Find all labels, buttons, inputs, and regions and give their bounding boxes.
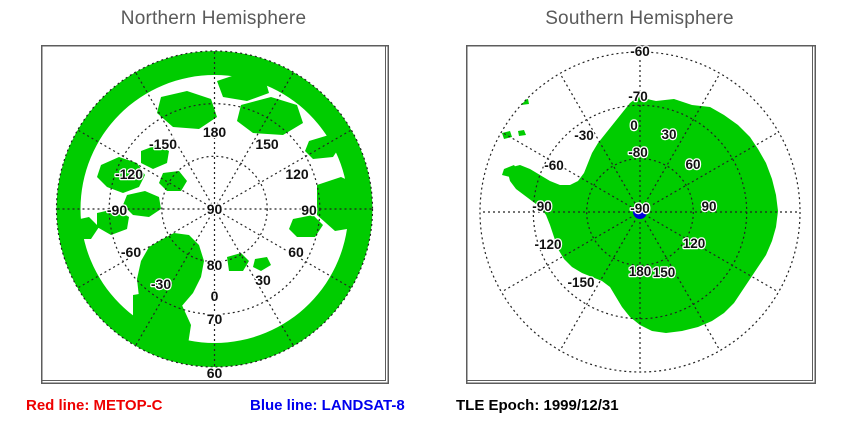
- sh-lon-label-m150: -150: [567, 275, 594, 290]
- nh-lon-label-60: 60: [288, 244, 304, 260]
- sh-lon-label-90: 90: [701, 199, 716, 214]
- nh-lon-label-180: 180: [202, 124, 226, 140]
- legend: Red line: METOP-C Blue line: LANDSAT-8 T…: [0, 395, 850, 423]
- nh-lon-label-90: 90: [301, 202, 317, 218]
- southern-map[interactable]: 180 -150 150 -120 120 -90 90 -60 60 -30 …: [466, 45, 813, 381]
- nh-lat-label-90: 90: [206, 201, 222, 217]
- land-island-a: [502, 131, 512, 139]
- sh-lat-label-m90: -90: [630, 201, 650, 216]
- sh-lon-label-m60: -60: [544, 158, 564, 173]
- nh-lat-label-60: 60: [206, 365, 222, 381]
- northern-map[interactable]: 180 -150 150 -120 120 -90 90 -60 60 -30 …: [41, 45, 386, 381]
- sh-lon-label-m30: -30: [574, 128, 594, 143]
- nh-lat-label-80: 80: [206, 257, 222, 273]
- nh-lat-label-70: 70: [206, 311, 222, 327]
- nh-lon-label-m90: -90: [106, 202, 126, 218]
- sh-lon-label-0: 0: [630, 118, 638, 133]
- sh-lon-label-120: 120: [682, 236, 705, 251]
- land-archipelago-b: [123, 191, 161, 217]
- northern-landmass-group: [41, 51, 373, 384]
- northern-map-svg: 180 -150 150 -120 120 -90 90 -60 60 -30 …: [41, 45, 389, 384]
- legend-tle-epoch: TLE Epoch: 1999/12/31: [456, 397, 619, 414]
- southern-title: Southern Hemisphere: [466, 8, 813, 30]
- sh-lat-label-m70: -70: [628, 89, 648, 104]
- sh-lon-label-m90: -90: [532, 199, 552, 214]
- land-island-b: [518, 130, 526, 136]
- sh-lon-label-m120: -120: [534, 237, 561, 252]
- nh-lon-label-150: 150: [255, 136, 279, 152]
- nh-lon-label-30: 30: [255, 272, 271, 288]
- nh-lon-label-m60: -60: [120, 244, 140, 260]
- land-archipelago-d: [159, 171, 187, 191]
- land-europe-b: [287, 317, 341, 365]
- legend-blue-line: Blue line: LANDSAT-8: [250, 397, 405, 414]
- nh-lon-label-m150: -150: [148, 136, 176, 152]
- sh-lon-label-30: 30: [661, 127, 676, 142]
- sh-lat-label-m60: -60: [630, 45, 650, 59]
- southern-map-svg: 180 -150 150 -120 120 -90 90 -60 60 -30 …: [466, 45, 816, 384]
- land-chukotka: [237, 97, 303, 135]
- sh-lon-label-180: 180: [628, 264, 651, 279]
- land-franz-josef: [253, 257, 271, 271]
- land-iceland: [161, 369, 193, 384]
- legend-red-line: Red line: METOP-C: [26, 397, 162, 414]
- nh-lon-label-m30: -30: [150, 276, 170, 292]
- sh-lon-label-150: 150: [652, 265, 675, 280]
- nh-lon-label-120: 120: [285, 166, 309, 182]
- northern-title: Northern Hemisphere: [41, 8, 386, 30]
- nh-lon-label-0: 0: [210, 288, 218, 304]
- sh-lat-label-m80: -80: [628, 145, 648, 160]
- sh-lon-label-60: 60: [685, 157, 700, 172]
- nh-lon-label-m120: -120: [114, 166, 142, 182]
- land-novaya-zemlya: [289, 215, 323, 237]
